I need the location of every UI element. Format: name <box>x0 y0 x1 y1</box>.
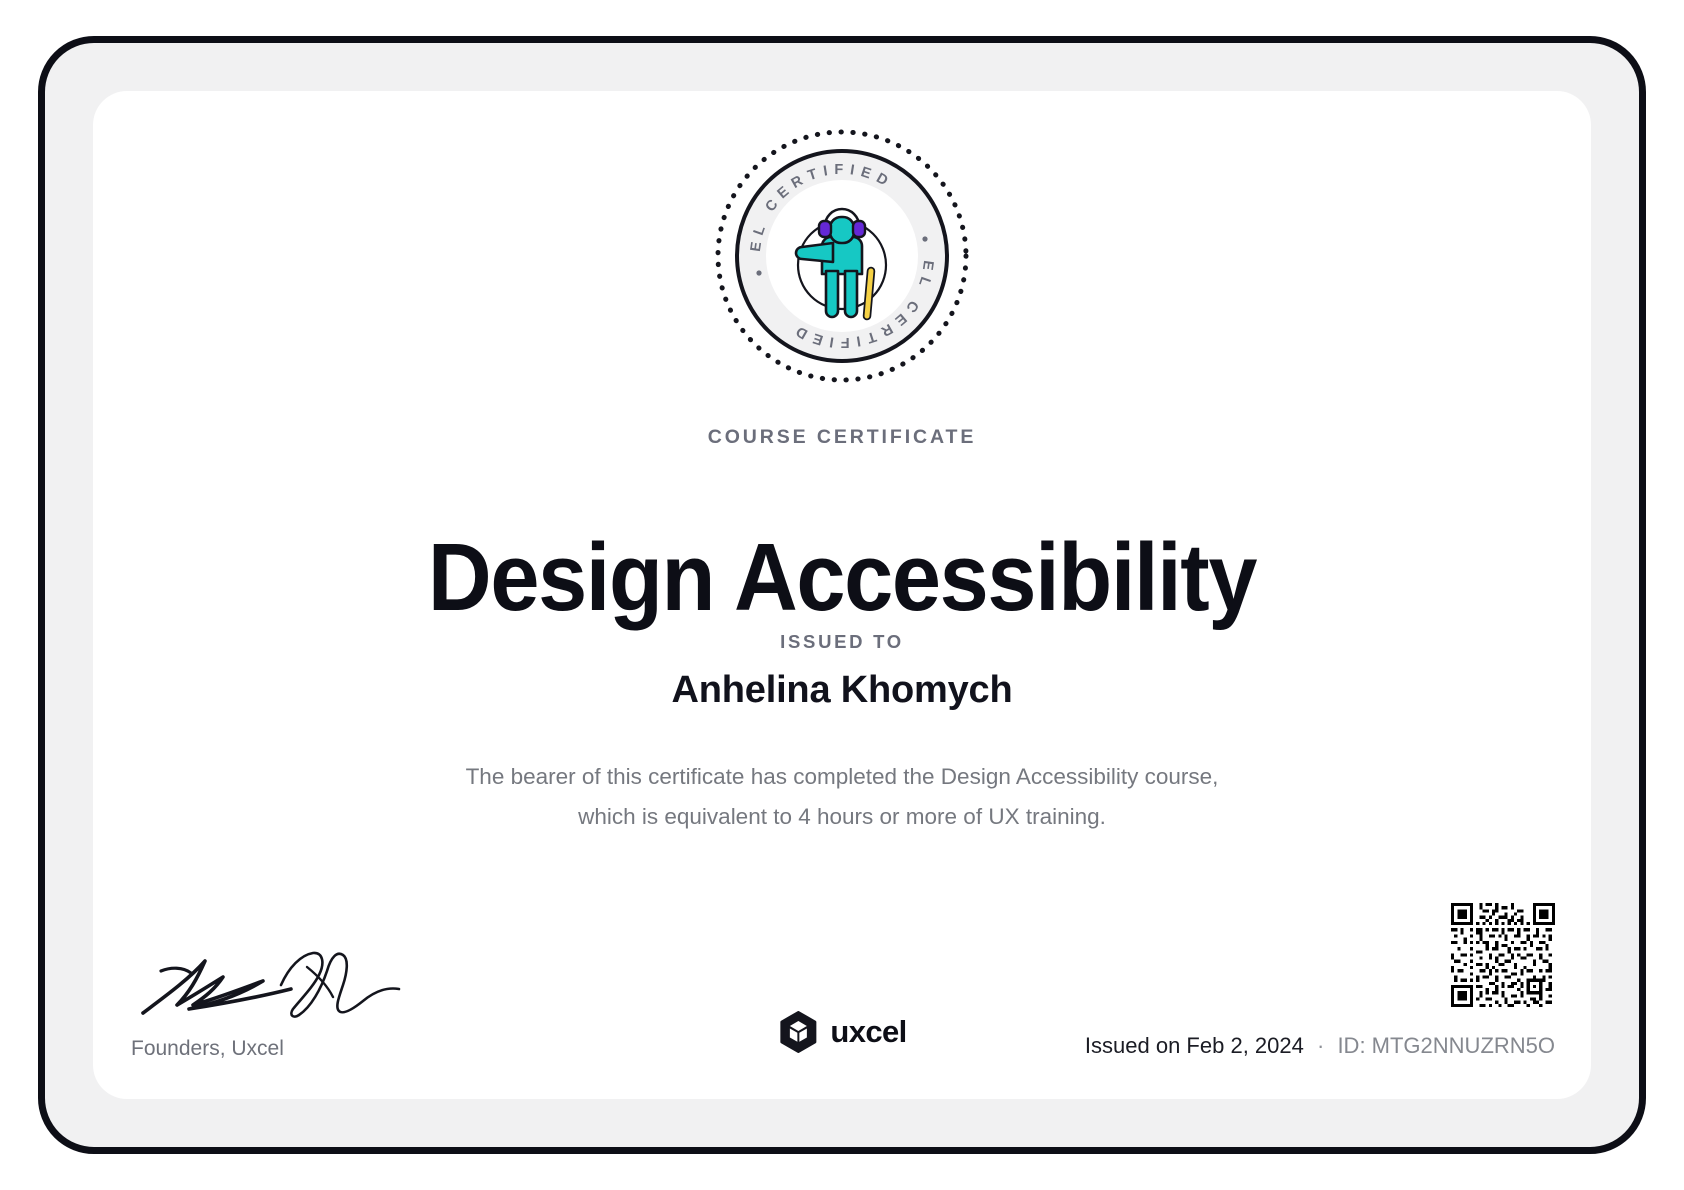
description-line-1: The bearer of this certificate has compl… <box>273 757 1411 797</box>
issue-separator: · <box>1310 1033 1331 1058</box>
signature-caption: Founders, Uxcel <box>131 1037 469 1061</box>
uxcel-certified-badge: UXCEL CERTIFIED UXCEL CERTIFIED <box>711 125 973 387</box>
certificate-description: The bearer of this certificate has compl… <box>273 757 1411 837</box>
description-line-2: which is equivalent to 4 hours or more o… <box>273 797 1411 837</box>
certificate-card: UXCEL CERTIFIED UXCEL CERTIFIED <box>93 91 1591 1099</box>
qr-code-icon[interactable] <box>1451 903 1555 1007</box>
course-title: Design Accessibility <box>153 527 1531 629</box>
certificate-id: ID: MTG2NNUZRN5O <box>1337 1033 1555 1058</box>
issued-to-label: ISSUED TO <box>93 631 1591 653</box>
issued-on-date: Issued on Feb 2, 2024 <box>1085 1033 1304 1058</box>
certificate-outer-frame: UXCEL CERTIFIED UXCEL CERTIFIED <box>38 36 1646 1154</box>
founders-signature-icon <box>131 945 421 1023</box>
recipient-name: Anhelina Khomych <box>93 669 1591 712</box>
uxcel-logo-icon <box>777 1011 819 1053</box>
issue-info: Issued on Feb 2, 2024 · ID: MTG2NNUZRN5O <box>1085 1033 1555 1059</box>
signature-block: Founders, Uxcel <box>129 945 469 1061</box>
course-certificate-kicker: COURSE CERTIFICATE <box>93 426 1591 449</box>
uxcel-brand: uxcel <box>777 1011 906 1053</box>
certificate-qr-code[interactable] <box>1451 903 1555 1007</box>
uxcel-brand-name: uxcel <box>830 1014 906 1050</box>
badge-seal-icon: UXCEL CERTIFIED UXCEL CERTIFIED <box>711 125 973 387</box>
